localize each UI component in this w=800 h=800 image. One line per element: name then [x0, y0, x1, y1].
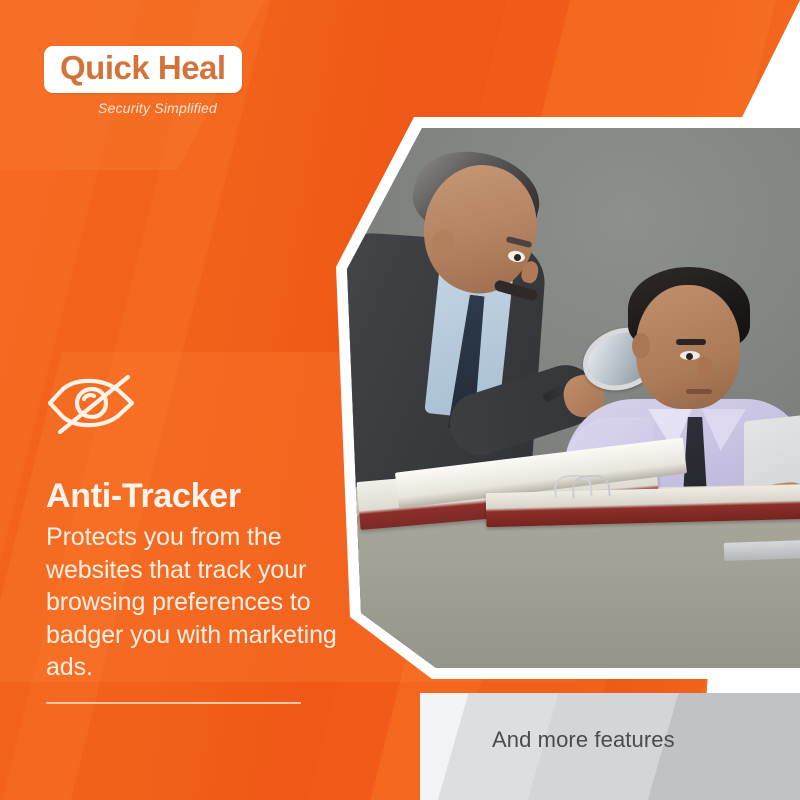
promo-poster: Quick Heal Security Simplified Anti-Trac… — [0, 0, 800, 800]
page-title: Anti-Tracker — [46, 478, 364, 515]
young-man-ear — [632, 333, 650, 359]
young-man-pupil — [686, 353, 693, 360]
young-man-nose — [698, 357, 712, 379]
more-features-label: And more features — [492, 727, 675, 753]
feature-description: Protects you from the websites that trac… — [46, 521, 364, 684]
young-man-mouth — [686, 389, 712, 394]
feature-copy: Anti-Tracker Protects you from the websi… — [46, 478, 364, 684]
divider-rule — [46, 702, 301, 704]
older-man-pupil — [514, 254, 521, 261]
photo-panel-frame — [336, 117, 800, 679]
young-man-eyebrow — [676, 339, 706, 345]
photo-scene — [336, 117, 800, 679]
logo-plate: Quick Heal — [44, 46, 242, 93]
brand-logo[interactable]: Quick Heal Security Simplified — [44, 46, 284, 116]
logo-wordmark: Quick Heal — [60, 51, 226, 86]
laptop-base — [724, 539, 800, 561]
binder-ring — [571, 474, 610, 498]
footer-strip[interactable]: And more features — [420, 693, 800, 800]
eye-off-icon — [46, 372, 138, 434]
photo-image — [336, 117, 800, 679]
logo-tagline: Security Simplified — [44, 100, 217, 116]
